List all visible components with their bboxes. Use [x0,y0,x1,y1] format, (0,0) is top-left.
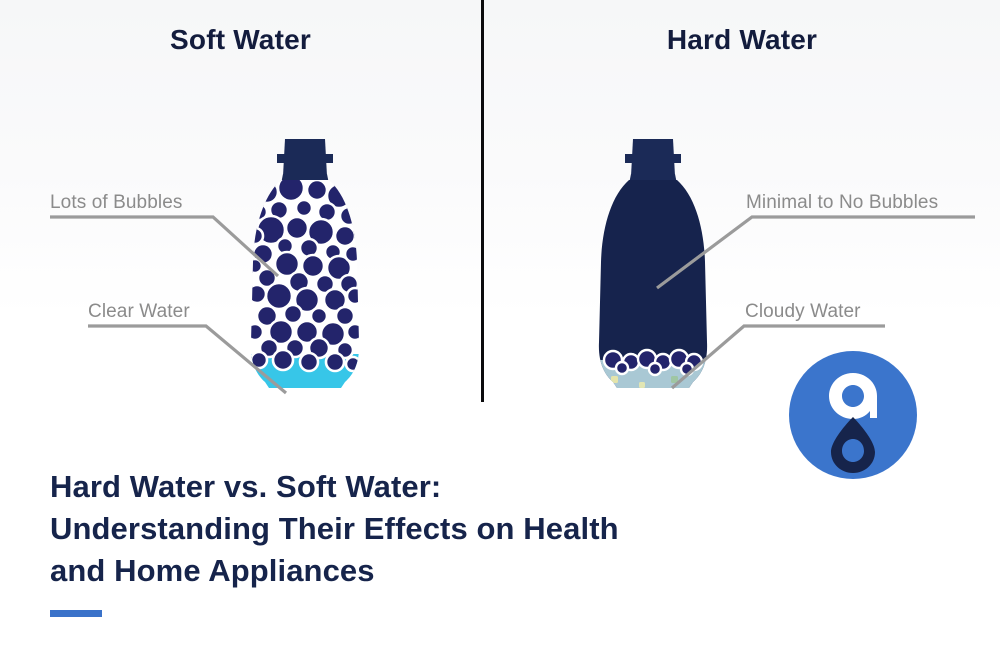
headline-accent-bar [50,610,102,617]
hard-water-bottle-graphic [595,136,711,404]
soft-water-panel-title: Soft Water [0,24,481,56]
callout-label-minimal-to-no-bubbles: Minimal to No Bubbles [746,192,938,214]
soft-water-bottle [247,136,363,404]
panel-divider [481,0,484,402]
logo-droplet-icon [831,417,875,473]
hard-water-panel-title: Hard Water [484,24,1000,56]
soft-water-bottle-graphic [247,136,363,404]
callout-label-cloudy-water: Cloudy Water [745,301,861,323]
hard-water-bottle [595,136,711,404]
callout-label-lots-of-bubbles: Lots of Bubbles [50,192,182,214]
comparison-panel: Soft Water Hard Water [0,0,1000,440]
surface-bubble-row [604,350,702,375]
headline-line-3: and Home Appliances [50,550,750,592]
bottle-cap-icon [277,139,333,184]
headline-line-2: Understanding Their Effects on Health [50,508,750,550]
water-drop-logo-icon [789,351,917,479]
page-title: Hard Water vs. Soft Water: Understanding… [50,466,750,592]
bottle-cap-icon [625,139,681,184]
infographic-root: Soft Water Hard Water [0,0,1000,667]
article-headline-block: Hard Water vs. Soft Water: Understanding… [50,466,750,592]
logo-ring-mark [829,373,877,419]
leader-line-lots-of-bubbles [50,214,280,284]
callout-label-clear-water: Clear Water [88,301,190,323]
water-drop-logo[interactable] [789,351,917,479]
headline-line-1: Hard Water vs. Soft Water: [50,466,750,508]
